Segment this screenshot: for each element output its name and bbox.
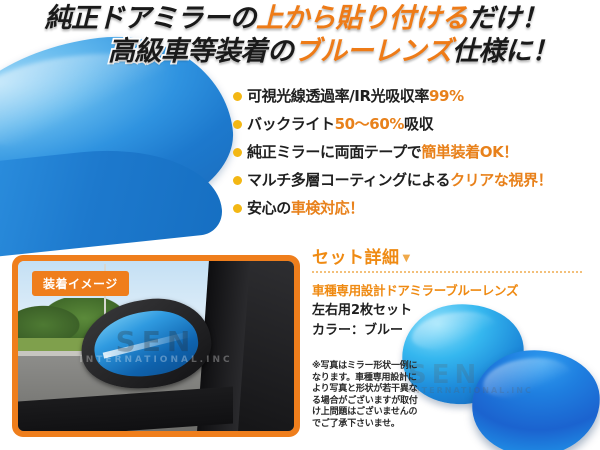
feature-text: 純正ミラーに両面テープで簡単装着OK！ xyxy=(247,142,518,162)
feature-text-accent: 簡単装着OK！ xyxy=(421,143,518,161)
install-photo: SEN INTERNATIONAL.INC 装着イメージ xyxy=(18,261,294,431)
feature-item: 安心の車検対応！ xyxy=(233,198,593,221)
set-details-title: セット詳細▼ xyxy=(312,243,594,268)
feature-text: 可視光線透過率/IR光吸収率99% xyxy=(247,86,464,106)
headline-line1-accent: 上から貼り付ける xyxy=(256,3,468,34)
headline-line2-accent: ブルーレンズ xyxy=(294,36,452,67)
feature-text: マルチ多層コーティングによるクリアな視界！ xyxy=(247,170,552,190)
headline-line-2: 高級車等装着のブルーレンズ仕様に！ xyxy=(0,35,600,68)
bullet-dot-icon xyxy=(233,176,242,185)
headline-line2-pre: 高級車等装着の xyxy=(108,36,294,67)
spec-color: カラー：ブルー xyxy=(312,322,594,339)
feature-item: マルチ多層コーティングによるクリアな視界！ xyxy=(233,170,593,193)
bullet-dot-icon xyxy=(233,148,242,157)
disclaimer-note: ※写真はミラー形状一例になります。車種専用設計により写真と形状が若干異なる場合が… xyxy=(312,361,424,430)
headline-line1-pre: 純正ドアミラーの xyxy=(45,3,256,34)
set-details-block: セット詳細▼ 車種専用設計ドアミラーブルーレンズ 左右用2枚セット カラー：ブル… xyxy=(312,243,594,339)
install-photo-frame: SEN INTERNATIONAL.INC 装着イメージ xyxy=(12,255,300,437)
feature-text: バックライト50〜60%吸収 xyxy=(247,114,433,134)
feature-text-accent: クリアな視界！ xyxy=(450,171,552,189)
feature-list: 可視光線透過率/IR光吸収率99% バックライト50〜60%吸収 純正ミラーに両… xyxy=(233,86,593,226)
headline-block: 純正ドアミラーの上から貼り付けるだけ！ 高級車等装着のブルーレンズ仕様に！ xyxy=(0,2,600,69)
headline-line-1: 純正ドアミラーの上から貼り付けるだけ！ xyxy=(0,2,600,35)
feature-text-tail: 吸収 xyxy=(404,115,433,133)
set-details-divider xyxy=(312,271,582,273)
promo-banner: 純正ドアミラーの上から貼り付けるだけ！ 高級車等装着のブルーレンズ仕様に！ 可視… xyxy=(0,0,600,450)
feature-text-main: 安心の xyxy=(247,199,291,217)
set-details-title-text: セット詳細 xyxy=(312,248,400,268)
headline-line1-post: だけ！ xyxy=(468,3,548,34)
feature-text-main: 可視光線透過率/IR光吸収率 xyxy=(247,87,429,105)
install-photo-tag: 装着イメージ xyxy=(32,271,129,296)
feature-text-accent: 50〜60% xyxy=(335,115,404,133)
feature-item: バックライト50〜60%吸収 xyxy=(233,114,593,137)
feature-text-accent: 99% xyxy=(429,87,464,105)
feature-text-main: バックライト xyxy=(247,115,335,133)
feature-text-main: マルチ多層コーティングによる xyxy=(247,171,450,189)
chevron-down-icon: ▼ xyxy=(403,253,411,264)
spec-quantity: 左右用2枚セット xyxy=(312,302,594,319)
feature-text: 安心の車検対応！ xyxy=(247,198,364,218)
product-name: 車種専用設計ドアミラーブルーレンズ xyxy=(312,280,594,299)
feature-text-main: 純正ミラーに両面テープで xyxy=(247,143,421,161)
feature-item: 可視光線透過率/IR光吸収率99% xyxy=(233,86,593,109)
bullet-dot-icon xyxy=(233,120,242,129)
photo-mirror-blue-lens xyxy=(91,306,203,383)
feature-text-accent: 車検対応！ xyxy=(291,199,364,217)
bullet-dot-icon xyxy=(233,204,242,213)
headline-line2-post: 仕様に！ xyxy=(452,36,558,67)
feature-item: 純正ミラーに両面テープで簡単装着OK！ xyxy=(233,142,593,165)
bullet-dot-icon xyxy=(233,92,242,101)
